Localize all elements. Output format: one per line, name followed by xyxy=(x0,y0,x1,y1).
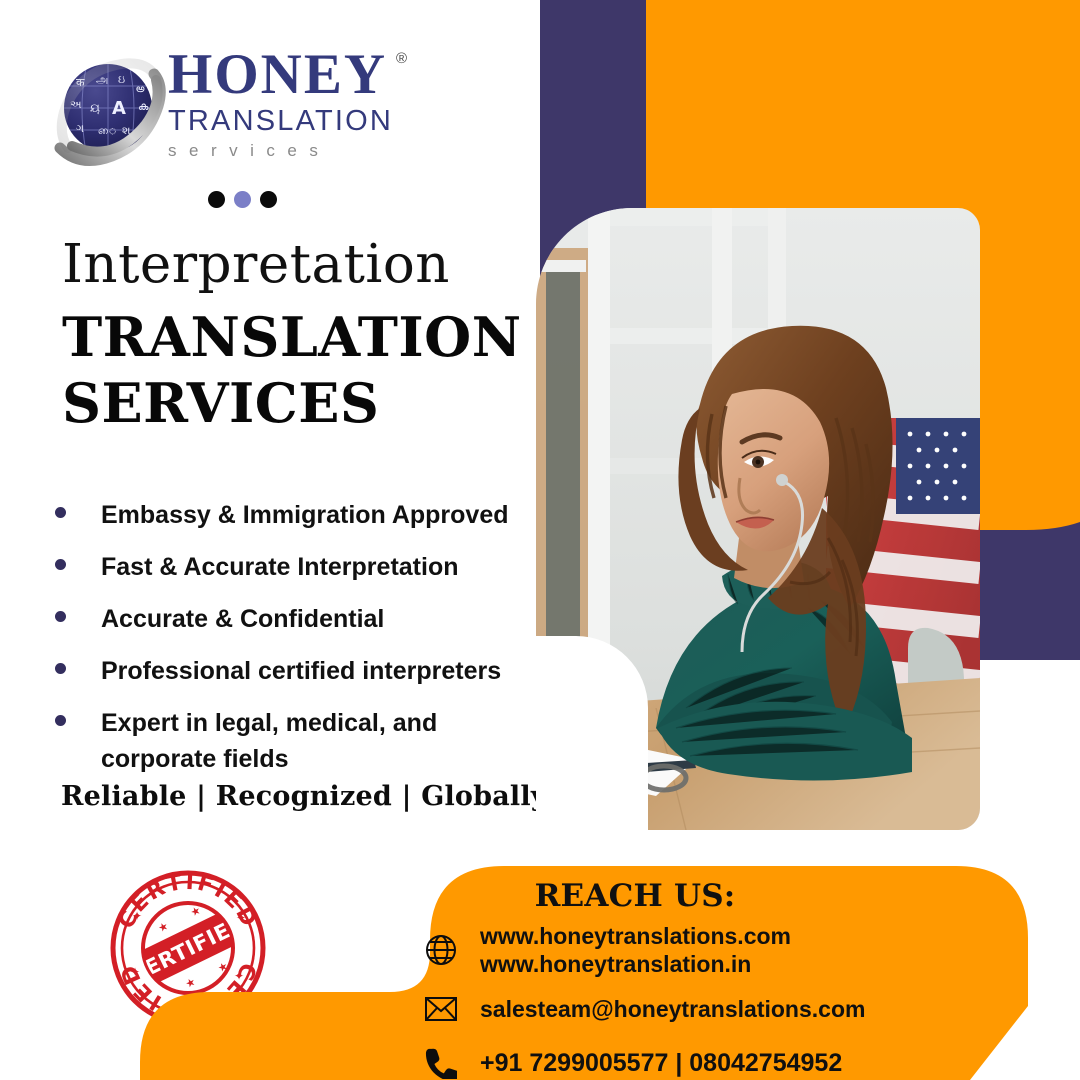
contact-details: REACH US: www.honeytranslations. xyxy=(420,876,1060,1080)
svg-text:ക: ക xyxy=(138,100,149,113)
registered-trademark-icon: ® xyxy=(396,50,407,67)
list-item-label: Expert in legal, medical, and corporate … xyxy=(101,705,521,777)
website-1[interactable]: www.honeytranslations.com xyxy=(480,922,791,950)
feature-list: Embassy & Immigration Approved Fast & Ac… xyxy=(55,497,575,793)
headline-main: TRANSLATION SERVICES xyxy=(62,304,562,436)
dot-dark-1 xyxy=(208,191,225,208)
logo-primary-text: HONEY xyxy=(168,46,468,104)
bullet-dot-icon xyxy=(55,663,66,674)
bullet-dot-icon xyxy=(55,715,66,726)
logo-secondary-text: TRANSLATION xyxy=(168,104,468,138)
svg-text:A: A xyxy=(112,98,126,119)
page-title: Interpretation TRANSLATION SERVICES xyxy=(62,234,562,436)
list-item-label: Fast & Accurate Interpretation xyxy=(101,549,458,585)
headline-script-line: Interpretation xyxy=(62,234,562,296)
svg-text:ை: ை xyxy=(98,124,117,137)
list-item: Fast & Accurate Interpretation xyxy=(55,549,575,585)
list-item-label: Accurate & Confidential xyxy=(101,601,384,637)
svg-text:ୟ: ୟ xyxy=(90,101,100,115)
brand-logo[interactable]: क அ ઇ అ અ ୟ A ക ગ ை શ HONEY ® TRANSLATIO… xyxy=(50,44,470,184)
bullet-dot-icon xyxy=(55,559,66,570)
phone-values[interactable]: +91 7299005577 | 08042754952 xyxy=(480,1049,842,1077)
contact-row-email[interactable]: salesteam@honeytranslations.com xyxy=(420,988,1060,1030)
bullet-dot-icon xyxy=(55,507,66,518)
envelope-icon xyxy=(420,988,462,1030)
list-item: Embassy & Immigration Approved xyxy=(55,497,575,533)
phone-icon xyxy=(420,1042,462,1080)
website-2[interactable]: www.honeytranslation.in xyxy=(480,950,791,978)
svg-text:✦: ✦ xyxy=(130,965,140,979)
list-item: Expert in legal, medical, and corporate … xyxy=(55,705,575,777)
logo-tertiary-text: services xyxy=(168,138,468,164)
list-item-label: Professional certified interpreters xyxy=(101,653,501,689)
interpreter-at-desk-photo xyxy=(536,208,980,830)
poster-canvas: क அ ઇ అ અ ୟ A ക ગ ை શ HONEY ® TRANSLATIO… xyxy=(0,0,1080,1080)
photo-artwork xyxy=(536,208,980,830)
contact-panel: REACH US: www.honeytranslations. xyxy=(140,866,1080,1080)
globe-icon xyxy=(420,929,462,971)
contact-row-phone[interactable]: +91 7299005577 | 08042754952 xyxy=(420,1042,1060,1080)
list-item: Accurate & Confidential xyxy=(55,601,575,637)
website-values: www.honeytranslations.com www.honeytrans… xyxy=(480,922,791,978)
headline-bold-line-2: SERVICES xyxy=(62,370,562,436)
svg-text:ગ: ગ xyxy=(76,122,84,135)
dot-mid xyxy=(234,191,251,208)
headline-bold-line-1: TRANSLATION xyxy=(62,304,562,370)
bullet-dot-icon xyxy=(55,611,66,622)
list-item-label: Embassy & Immigration Approved xyxy=(101,497,509,533)
svg-text:ઇ: ઇ xyxy=(118,73,125,86)
dots-divider xyxy=(208,191,277,208)
logo-wordmark: HONEY ® TRANSLATION services xyxy=(168,46,468,164)
contact-heading: REACH US: xyxy=(420,876,850,916)
contact-row-website[interactable]: www.honeytranslations.com www.honeytrans… xyxy=(420,922,1060,978)
list-item: Professional certified interpreters xyxy=(55,653,575,689)
svg-text:★: ★ xyxy=(124,935,139,951)
svg-text:అ: అ xyxy=(136,82,145,95)
dot-dark-2 xyxy=(260,191,277,208)
globe-languages-icon: क அ ઇ అ અ ୟ A ക ગ ை શ xyxy=(50,52,172,174)
email-value[interactable]: salesteam@honeytranslations.com xyxy=(480,995,865,1023)
